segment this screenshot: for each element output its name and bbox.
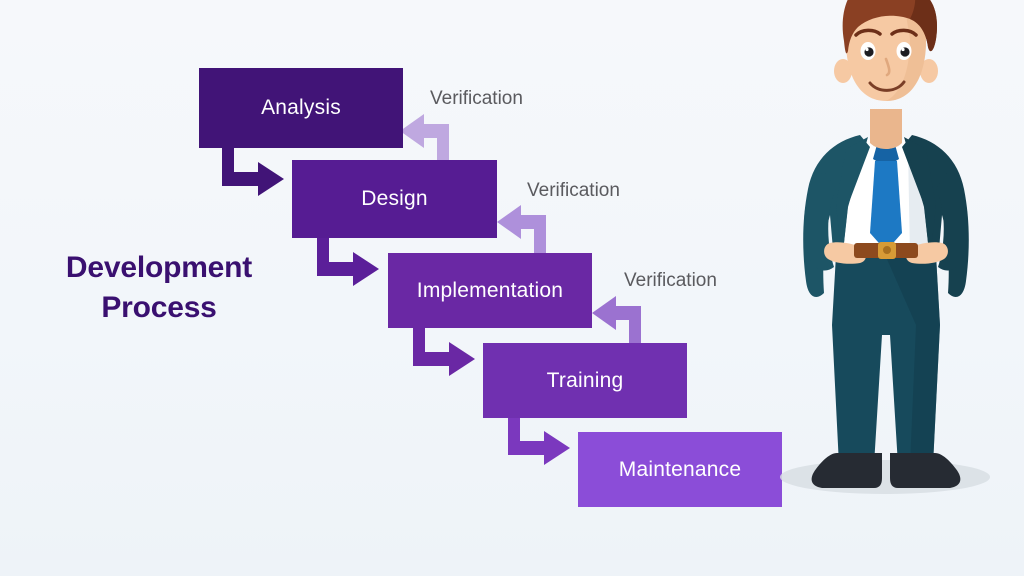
shoe-right (890, 453, 960, 488)
businessman-character (0, 0, 1024, 576)
diagram-canvas: Development Process Analysis Design Impl… (0, 0, 1024, 576)
shoe-left (812, 453, 882, 488)
eye-highlight-left (865, 48, 868, 51)
necktie-body (870, 161, 902, 251)
neck (870, 109, 902, 149)
eye-highlight-right (901, 48, 904, 51)
belt-buckle-center (883, 246, 891, 254)
